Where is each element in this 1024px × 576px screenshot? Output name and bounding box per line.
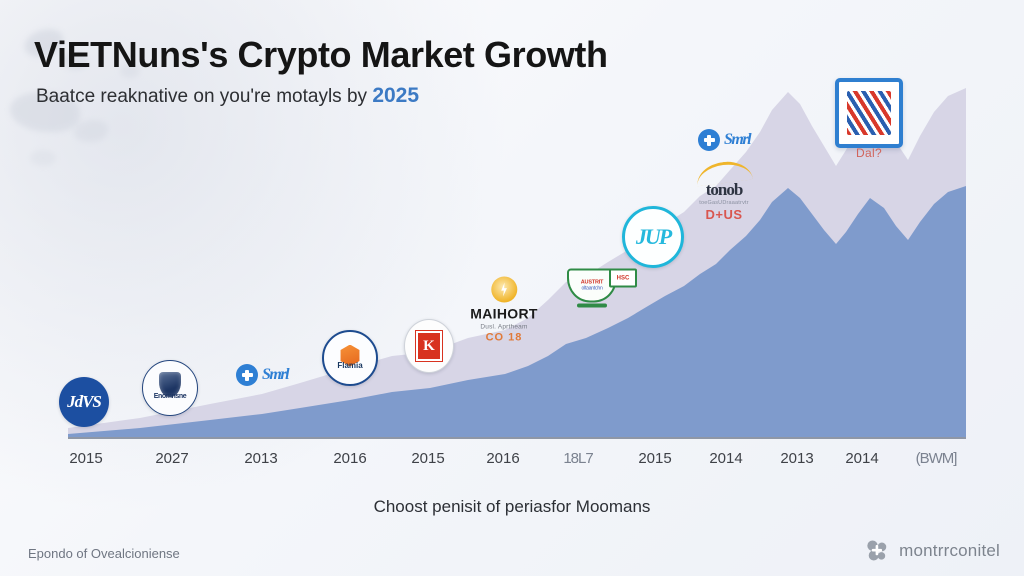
milestone-glyph: K [423,338,435,355]
shield-badge-icon[interactable]: Enomnsne [142,360,198,416]
milestone-m5[interactable]: K [404,319,454,373]
milestone-line2: oltaantchn [581,286,602,292]
x-tick-label: 2015 [411,450,444,467]
footer-brand[interactable]: montrrconitel [864,538,1000,564]
milestone-number: D+US [696,207,752,222]
milestone-caption: Flamia [337,361,362,370]
jdvs-disc-icon[interactable]: JdVS [59,377,109,427]
clover-node-icon [864,538,890,564]
x-tick-label: 2015 [69,450,102,467]
milestone-m4[interactable]: Flamia [322,330,378,386]
flamia-hex-icon[interactable]: Flamia [322,330,378,386]
k-logo-icon: K [416,331,442,361]
milestone-glyph: Smrl [724,131,750,149]
x-tick-label: 2015 [638,450,671,467]
subtitle-year: 2025 [372,84,419,107]
milestone-subtext: toeGasUDraaatrvtr [696,200,752,206]
milestone-m9[interactable]: Smrl [698,129,750,151]
milestone-m1[interactable]: JdVS [59,377,109,427]
subtitle-text: Baatce reaknative on you're motayls by [36,86,372,107]
bowl-base-icon [577,304,607,308]
milestone-glyph: JdVS [67,392,101,412]
x-tick-label: 2016 [333,450,366,467]
brand-name: montrrconitel [899,541,1000,561]
blue-cross-pill-icon[interactable]: Smrl [236,364,288,386]
milestone-flag: HSC [617,275,630,281]
x-tick-label: 2013 [244,450,277,467]
x-tick-label: 2014 [845,450,878,467]
cross-icon [698,129,720,151]
blue-cross-pill-icon[interactable]: Smrl [698,129,750,151]
x-tick-label: 2013 [780,450,813,467]
slide-canvas: ViETNuns's Crypto Market Growth Baatce r… [0,0,1024,576]
x-axis-caption: Choost penisit of periasfor Moomans [374,497,651,517]
x-tick-label: 2027 [155,450,188,467]
x-axis-line [68,437,966,439]
milestone-caption: Enomnsne [154,393,187,400]
milestone-m3[interactable]: Smrl [236,364,288,386]
k-tile-icon[interactable]: K [404,319,454,373]
x-tick-label: 2016 [486,450,519,467]
maihort-burst-icon [491,277,517,303]
milestone-glyph: JUP [636,224,670,250]
page-title: ViETNuns's Crypto Market Growth [34,34,608,76]
milestone-caption: MAIHORT [470,306,537,322]
x-tick-label: 18L7 [563,450,592,467]
milestone-m11[interactable]: Dal? [835,78,903,148]
milestone-subtext: Dusl. Aprtheam [470,324,537,331]
cross-icon [236,364,258,386]
cyan-ring-icon[interactable]: JUP [622,206,684,268]
milestone-m7[interactable]: AUSTRIT oltaantchn HSC [567,269,617,308]
milestone-m8[interactable]: JUP [622,206,684,268]
milestone-m10[interactable]: tonob toeGasUDraaatrvtr D+US [696,162,752,222]
milestone-caption: Dal? [856,146,882,160]
milestone-m2[interactable]: Enomnsne [142,360,198,416]
footer-note: Epondo of Ovealcioniense [28,546,180,561]
milestone-number: CO 18 [470,332,537,344]
x-tick-label: 2014 [709,450,742,467]
milestone-glyph: Smrl [262,366,288,384]
x-tick-label: (BWM] [916,450,957,467]
green-bowl-badge-icon[interactable]: AUSTRIT oltaantchn HSC [567,269,617,308]
flag-tag-icon: HSC [609,269,637,288]
flag-artwork-icon [847,91,891,135]
page-subtitle: Baatce reaknative on you're motayls by 2… [36,84,419,108]
milestone-m6[interactable]: MAIHORT Dusl. Aprtheam CO 18 [470,277,537,344]
framed-flag-tile-icon[interactable] [835,78,903,148]
